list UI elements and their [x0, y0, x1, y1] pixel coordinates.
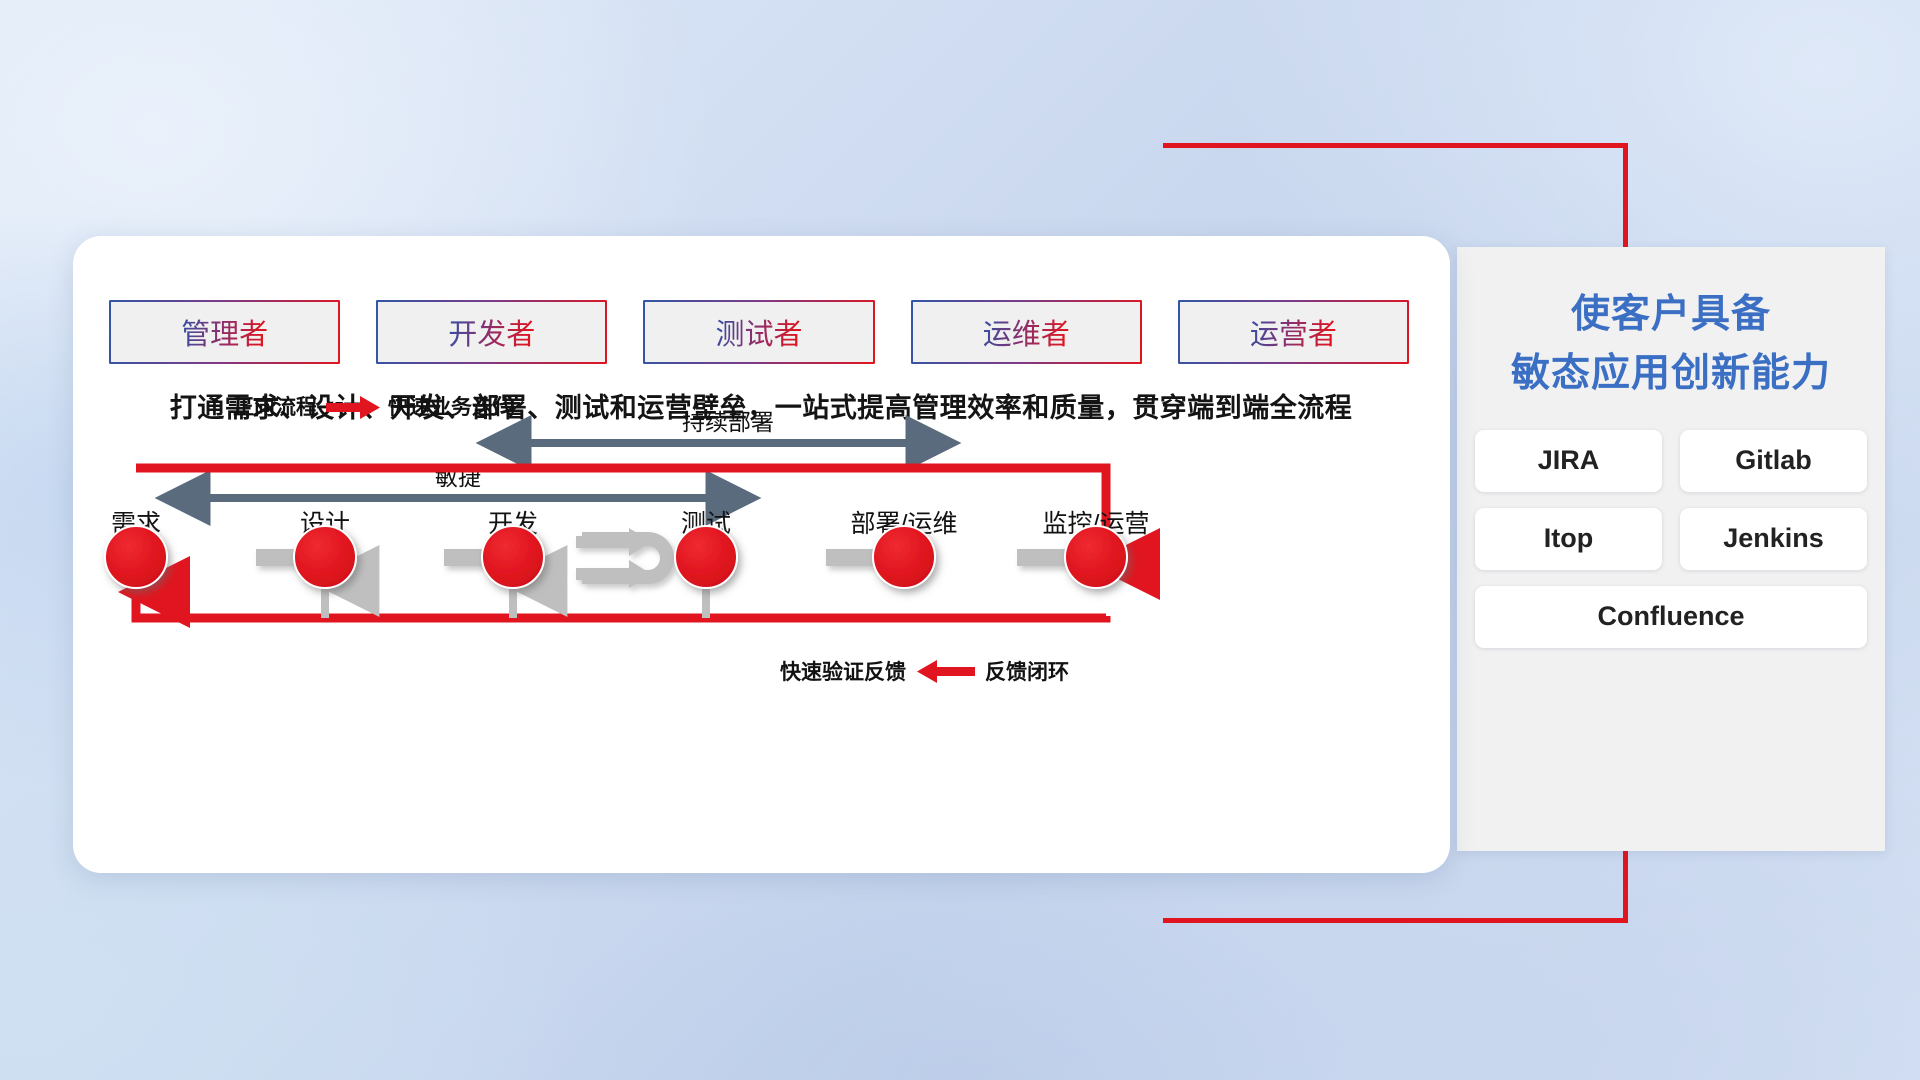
- legend-forward-arrow-icon: [326, 396, 380, 419]
- panel-title-line-1: 使客户具备: [1457, 287, 1885, 342]
- tools-panel: 使客户具备 敏态应用创新能力 JIRA Gitlab Itop Jenkins …: [1457, 247, 1885, 851]
- panel-title-line-2: 敏态应用创新能力: [1457, 346, 1885, 401]
- legend-forward-to: 快速业务迭代: [388, 395, 514, 419]
- tool-chip-grid: JIRA Gitlab Itop Jenkins Confluence: [1475, 430, 1867, 648]
- tool-chip-gitlab[interactable]: Gitlab: [1680, 430, 1867, 492]
- legend-feedback-arrow-icon: [917, 660, 975, 683]
- stage-node-requirement[interactable]: [105, 526, 167, 588]
- legend-feedback-to: 快速验证反馈: [780, 660, 906, 684]
- tool-chip-itop[interactable]: Itop: [1475, 508, 1662, 570]
- stage-node-design[interactable]: [294, 526, 356, 588]
- span-label-continuous-deploy: 持续部署: [682, 409, 774, 435]
- rework-loop-arrow-icon: [576, 528, 674, 588]
- stage-node-test[interactable]: [675, 526, 737, 588]
- stage-node-develop[interactable]: [482, 526, 544, 588]
- stage-node-deploy-ops[interactable]: [873, 526, 935, 588]
- tool-chip-jenkins[interactable]: Jenkins: [1680, 508, 1867, 570]
- legend-feedback-from: 反馈闭环: [985, 660, 1069, 684]
- main-card: 管理者 开发者 测试者 运维者 运营者 打通需求、设计、开发、部署、测试和运营壁…: [73, 236, 1450, 873]
- tool-chip-confluence[interactable]: Confluence: [1475, 586, 1867, 648]
- process-diagram: 正向流程 快速业务迭代 持续部署 敏捷: [73, 236, 1450, 873]
- stage-node-monitor-operations[interactable]: [1065, 526, 1127, 588]
- legend-forward-from: 正向流程: [233, 395, 317, 419]
- tool-chip-jira[interactable]: JIRA: [1475, 430, 1662, 492]
